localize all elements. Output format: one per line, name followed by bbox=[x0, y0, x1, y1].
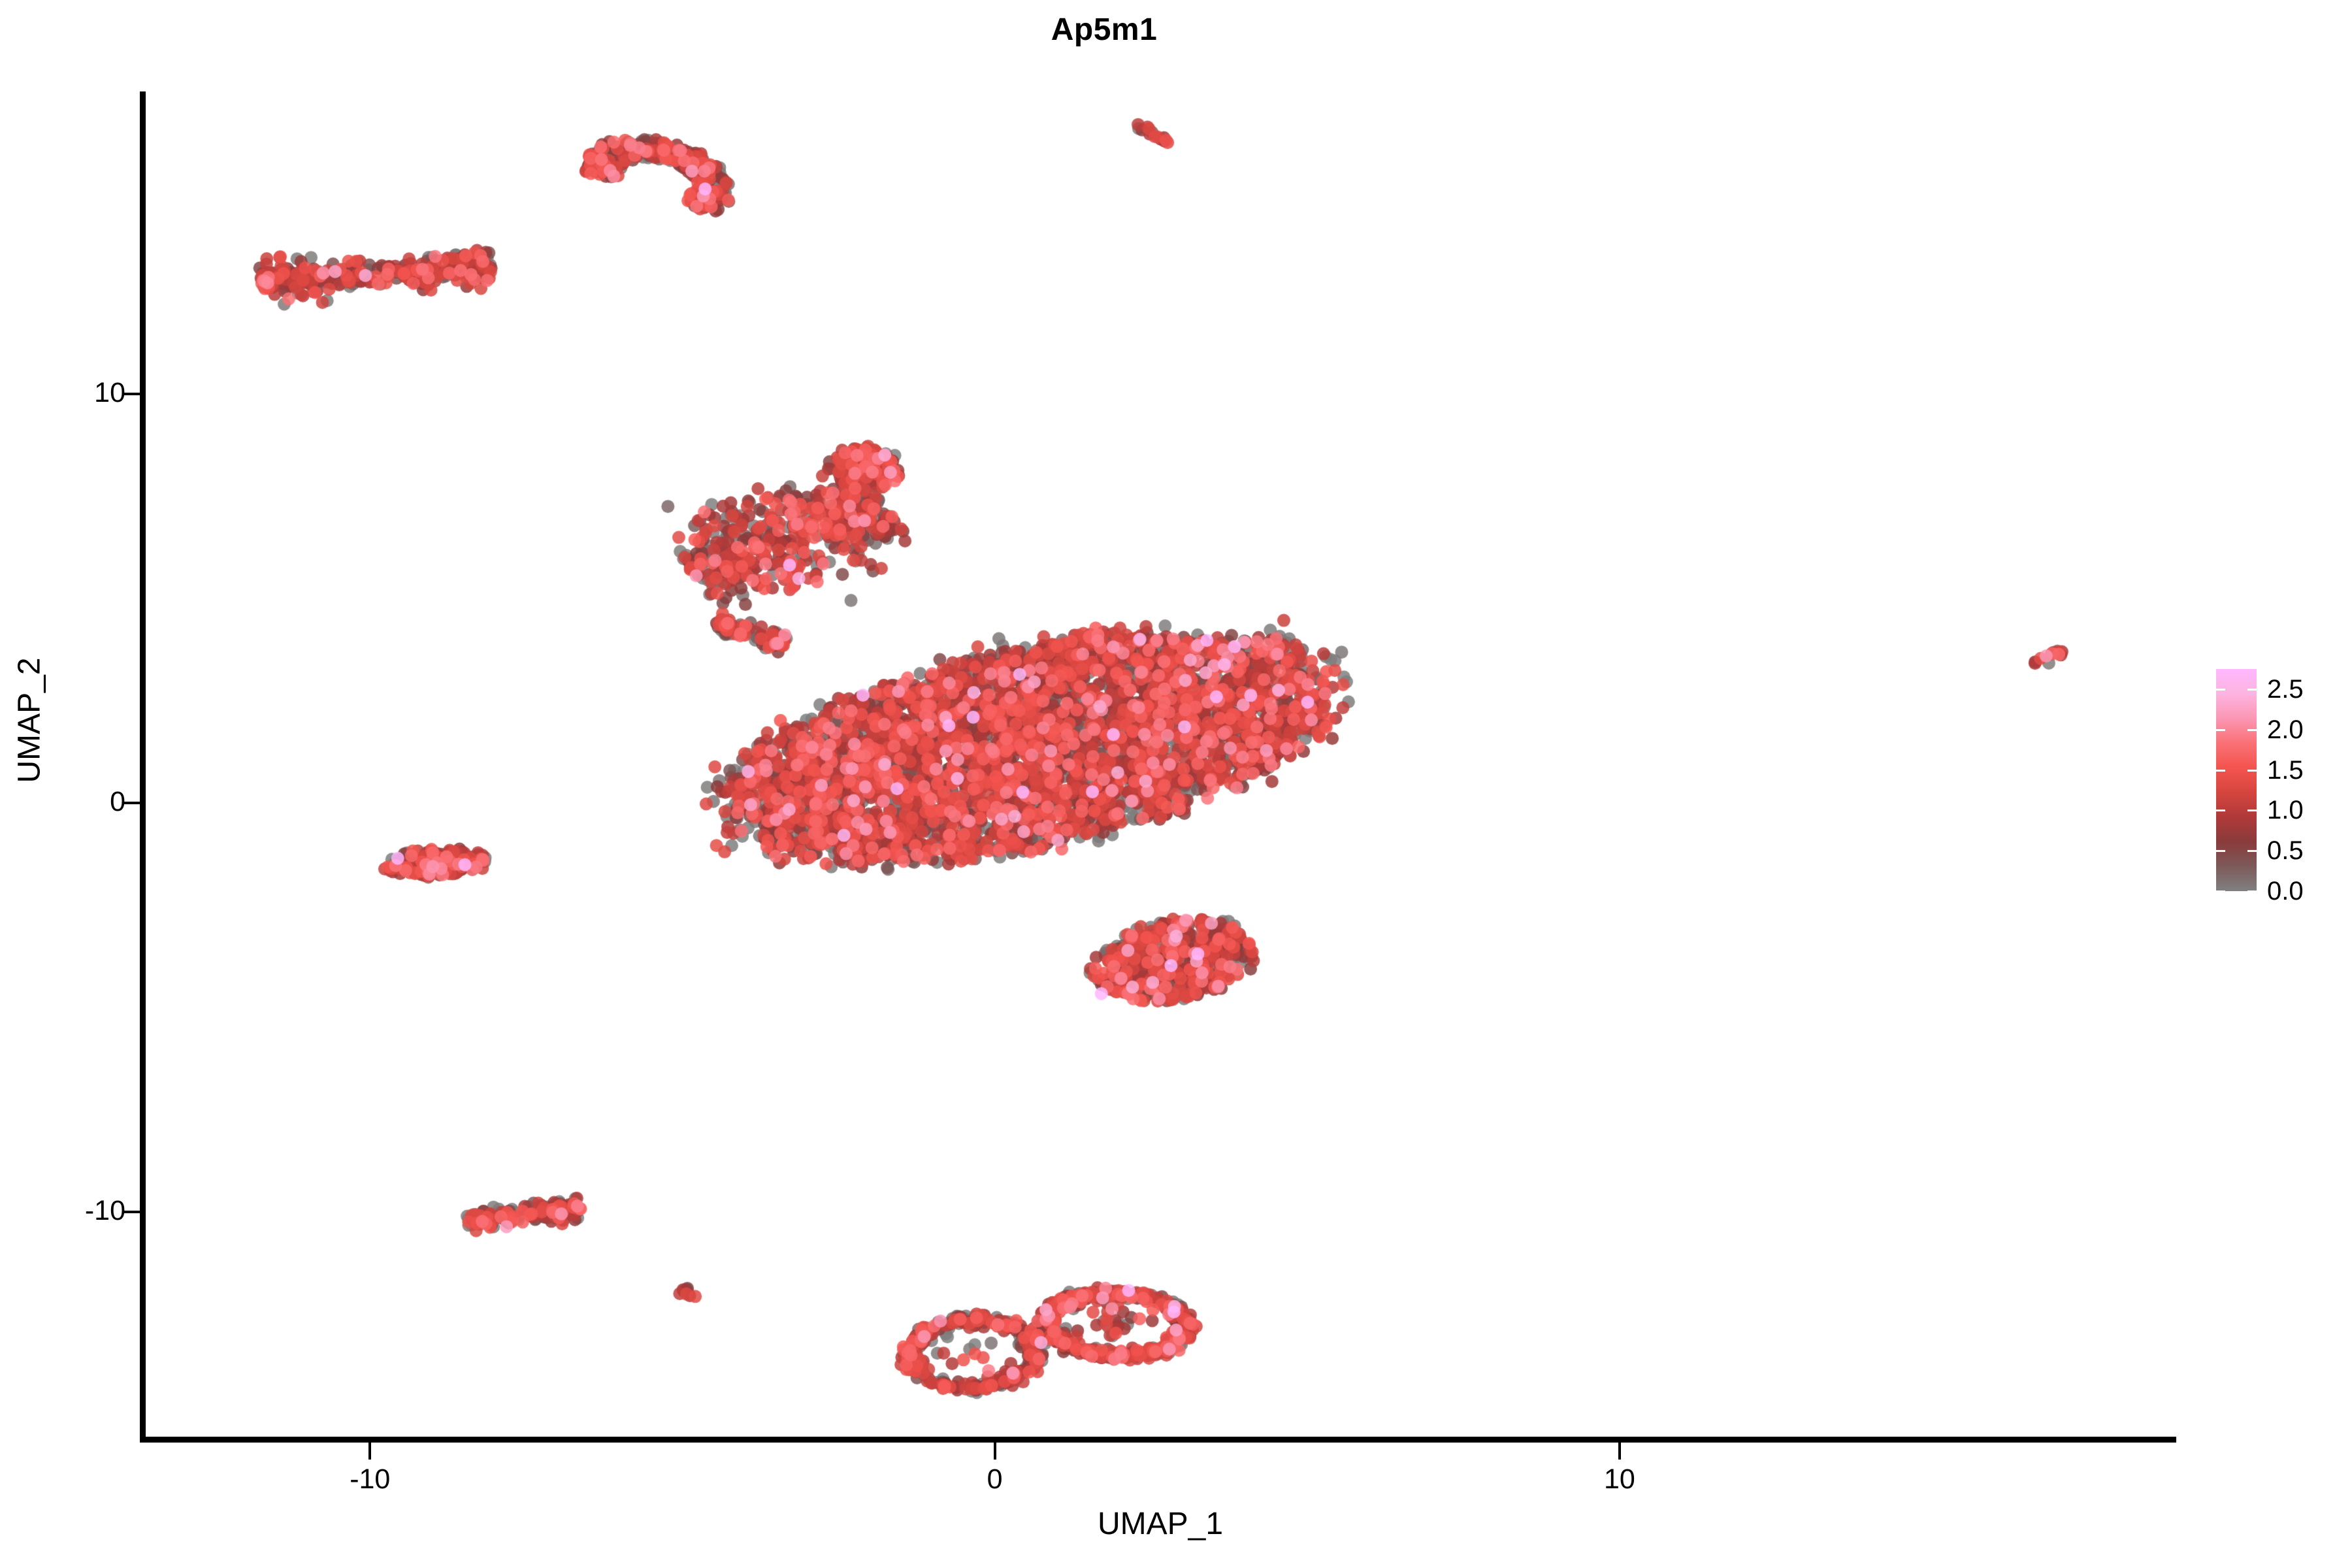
legend-label: 0.5 bbox=[2267, 838, 2304, 864]
x-axis-line bbox=[140, 1437, 2176, 1443]
y-axis-line bbox=[140, 91, 146, 1443]
legend-label: 1.0 bbox=[2267, 797, 2304, 823]
x-tick-mark bbox=[368, 1443, 371, 1460]
x-tick-label: 10 bbox=[1554, 1463, 1685, 1495]
x-tick-mark bbox=[1618, 1443, 1621, 1460]
legend-label: 0.0 bbox=[2267, 878, 2304, 904]
page-title: Ap5m1 bbox=[0, 12, 2208, 48]
scatter-panel bbox=[145, 91, 2176, 1441]
legend-label: 2.0 bbox=[2267, 717, 2304, 743]
legend-gradient-canvas bbox=[2216, 669, 2257, 891]
x-tick-mark bbox=[994, 1443, 996, 1460]
color-legend: 2.52.01.51.00.50.0 bbox=[2216, 669, 2340, 891]
feature-plot-root: Ap5m1 -10010 100-10 UMAP_1 UMAP_2 2.52.0… bbox=[0, 0, 2352, 1568]
x-axis-title: UMAP_1 bbox=[145, 1506, 2176, 1542]
x-tick-label: 0 bbox=[930, 1463, 1060, 1495]
y-tick-label: -10 bbox=[0, 1195, 125, 1227]
y-tick-label: 10 bbox=[0, 377, 125, 409]
y-axis-title: UMAP_2 bbox=[12, 492, 48, 949]
legend-label: 2.5 bbox=[2267, 676, 2304, 702]
legend-label: 1.5 bbox=[2267, 757, 2304, 783]
x-tick-label: -10 bbox=[304, 1463, 435, 1495]
umap-scatter-canvas bbox=[145, 91, 2176, 1441]
legend-colorbar bbox=[2216, 669, 2257, 891]
